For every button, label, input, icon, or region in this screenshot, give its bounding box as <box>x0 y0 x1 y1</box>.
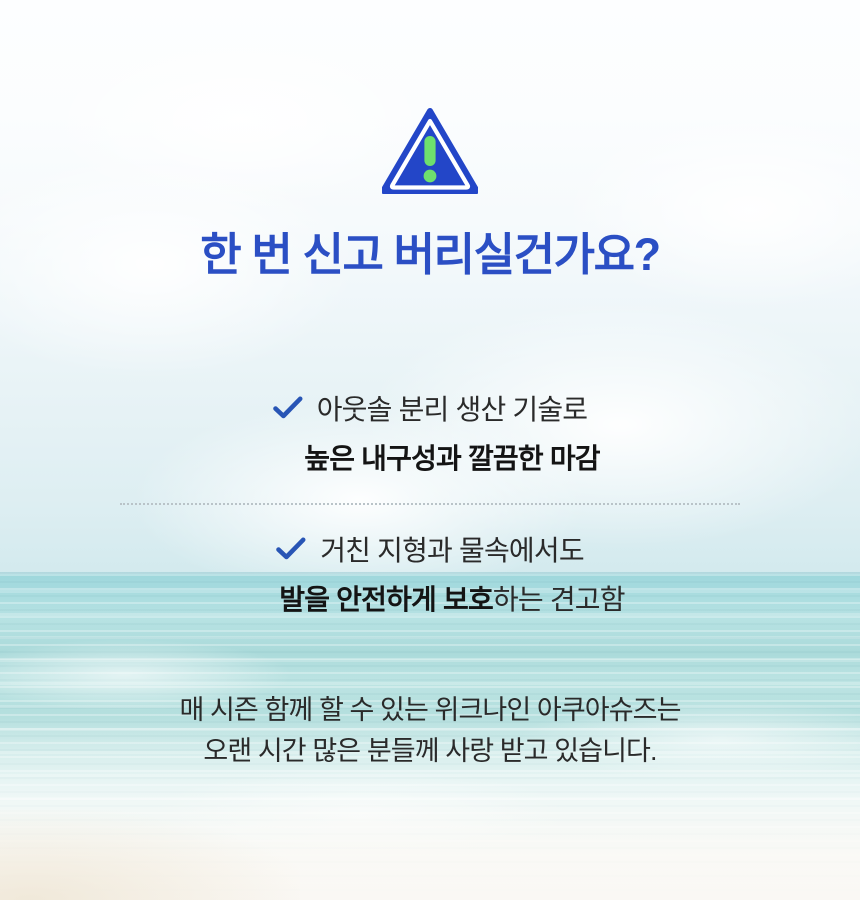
feature-list: 아웃솔 분리 생산 기술로 높은 내구성과 깔끔한 마감 거친 지형과 물속에서… <box>0 388 860 618</box>
check-icon <box>273 396 303 420</box>
promo-banner: 한 번 신고 버리실건가요? 아웃솔 분리 생산 기술로 높은 내구성과 깔끔한… <box>0 0 860 900</box>
feature-1-line1-row: 아웃솔 분리 생산 기술로 <box>0 388 860 428</box>
feature-2-line2-bold: 발을 안전하게 보호 <box>279 584 493 615</box>
closing-line-2: 오랜 시간 많은 분들께 사랑 받고 있습니다. <box>179 731 680 772</box>
page-title: 한 번 신고 버리실건가요? <box>200 230 659 280</box>
feature-2-line1-row: 거친 지형과 물속에서도 <box>0 529 860 569</box>
warning-triangle-icon <box>382 108 478 194</box>
feature-item-2: 거친 지형과 물속에서도 발을 안전하게 보호하는 견고함 <box>0 529 860 618</box>
closing-line-1: 매 시즌 함께 할 수 있는 위크나인 아쿠아슈즈는 <box>179 690 680 731</box>
check-icon <box>276 537 306 561</box>
feature-1-line2-row: 높은 내구성과 깔끔한 마감 <box>0 437 860 477</box>
feature-item-1: 아웃솔 분리 생산 기술로 높은 내구성과 깔끔한 마감 <box>0 388 860 477</box>
feature-1-line2-bold: 높은 내구성과 깔끔한 마감 <box>304 443 600 474</box>
closing-paragraph: 매 시즌 함께 할 수 있는 위크나인 아쿠아슈즈는 오랜 시간 많은 분들께 … <box>179 690 680 772</box>
feature-2-line1-text: 거친 지형과 물속에서도 <box>320 529 584 569</box>
feature-2-line2-regular: 하는 견고함 <box>493 584 625 615</box>
feature-2-line2-row: 발을 안전하게 보호하는 견고함 <box>0 578 860 618</box>
feature-1-line1-text: 아웃솔 분리 생산 기술로 <box>317 388 588 428</box>
dotted-divider <box>120 503 740 505</box>
